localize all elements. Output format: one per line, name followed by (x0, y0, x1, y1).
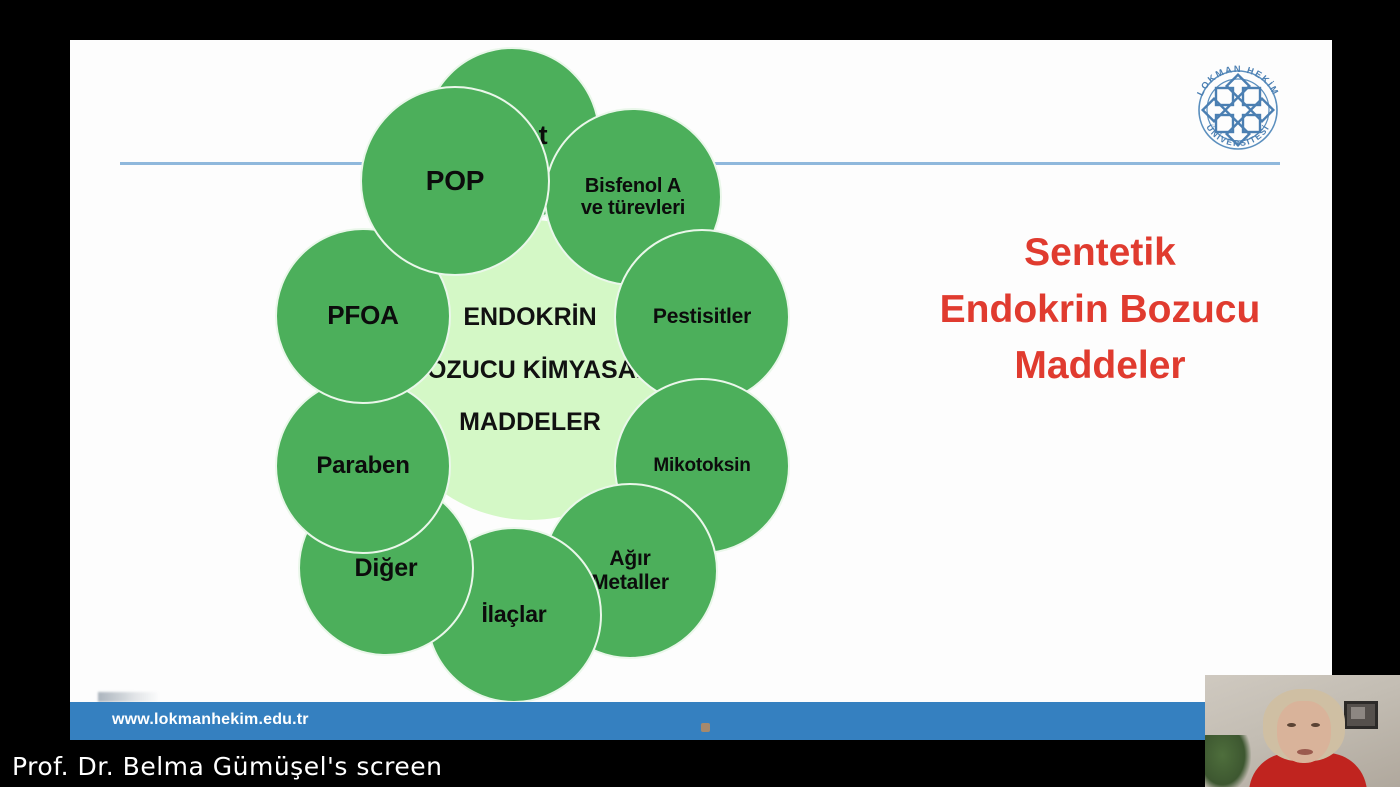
petal-bisfenol-a-label: Bisfenol A ve türevleri (581, 175, 685, 220)
screen-share-stage: LOKMAN HEKİM ÜNİVERSİTESİ ENDOKRİN BOZUC… (0, 0, 1400, 787)
petal-paraben-label: Paraben (316, 453, 409, 480)
petal-agir-metaller-label: Ağır Metaller (591, 547, 669, 594)
petal-pfoa-label: PFOA (327, 301, 398, 330)
petal-mikotoksin-label: Mikotoksin (653, 455, 750, 476)
svg-text:LOKMAN HEKİM: LOKMAN HEKİM (1195, 64, 1281, 97)
lokman-hekim-universitesi-logo: LOKMAN HEKİM ÜNİVERSİTESİ (1186, 58, 1290, 162)
screen-share-caption: Prof. Dr. Belma Gümüşel's screen (12, 752, 442, 781)
petal-pestisitler-label: Pestisitler (653, 305, 751, 329)
petal-diger-label: Diğer (355, 554, 418, 582)
webcam-self-view[interactable] (1205, 675, 1400, 787)
center-line-3: MADDELER (459, 396, 601, 449)
presentation-slide: LOKMAN HEKİM ÜNİVERSİTESİ ENDOKRİN BOZUC… (70, 40, 1332, 740)
petal-paraben[interactable]: Paraben (275, 378, 451, 554)
heading-line-1: Sentetik (900, 225, 1300, 282)
webcam-wall-picture-frame (1344, 701, 1378, 729)
petal-pop-label: POP (426, 165, 485, 196)
slide-heading: Sentetik Endokrin Bozucu Maddeler (900, 225, 1300, 395)
webcam-houseplant (1205, 735, 1251, 787)
petal-pop[interactable]: POP (360, 86, 550, 276)
petal-ilaclar-label: İlaçlar (481, 602, 546, 628)
endocrine-disruptors-circle-diagram: ENDOKRİN BOZUCU KİMYASAL MADDELER Ftalat… (190, 40, 910, 720)
footer-artifact (98, 692, 160, 702)
footer-speck (701, 723, 710, 732)
webcam-person-eye-left (1287, 723, 1296, 727)
webcam-person-eye-right (1311, 723, 1320, 727)
webcam-person-mouth (1297, 749, 1313, 755)
footer-website-url: www.lokmanhekim.edu.tr (112, 711, 309, 729)
heading-line-3: Maddeler (900, 338, 1300, 395)
center-line-2: BOZUCU KİMYASAL (409, 344, 651, 397)
heading-line-2: Endokrin Bozucu (900, 282, 1300, 339)
center-line-1: ENDOKRİN (463, 291, 596, 344)
svg-text:ÜNİVERSİTESİ: ÜNİVERSİTESİ (1204, 123, 1271, 149)
slide-footer-bar: www.lokmanhekim.edu.tr 44 (70, 702, 1332, 740)
